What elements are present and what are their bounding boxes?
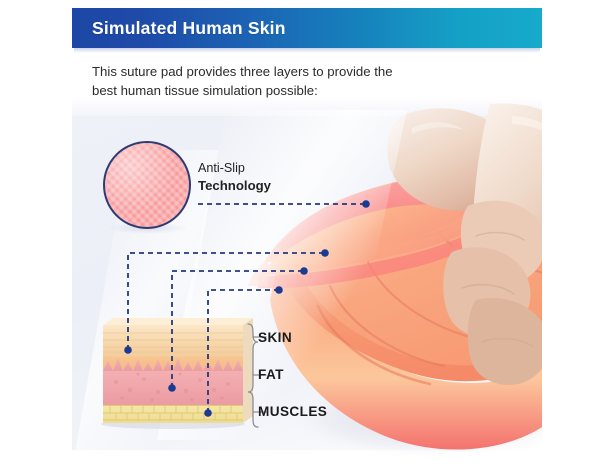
product-infographic: Simulated Human Skin This suture pad pro…	[0, 0, 600, 475]
layer-label-muscles: MUSCLES	[258, 404, 327, 419]
layer-label-fat: FAT	[258, 367, 284, 382]
content-panel: Simulated Human Skin This suture pad pro…	[72, 0, 542, 475]
layer-label-skin: SKIN	[258, 330, 292, 345]
